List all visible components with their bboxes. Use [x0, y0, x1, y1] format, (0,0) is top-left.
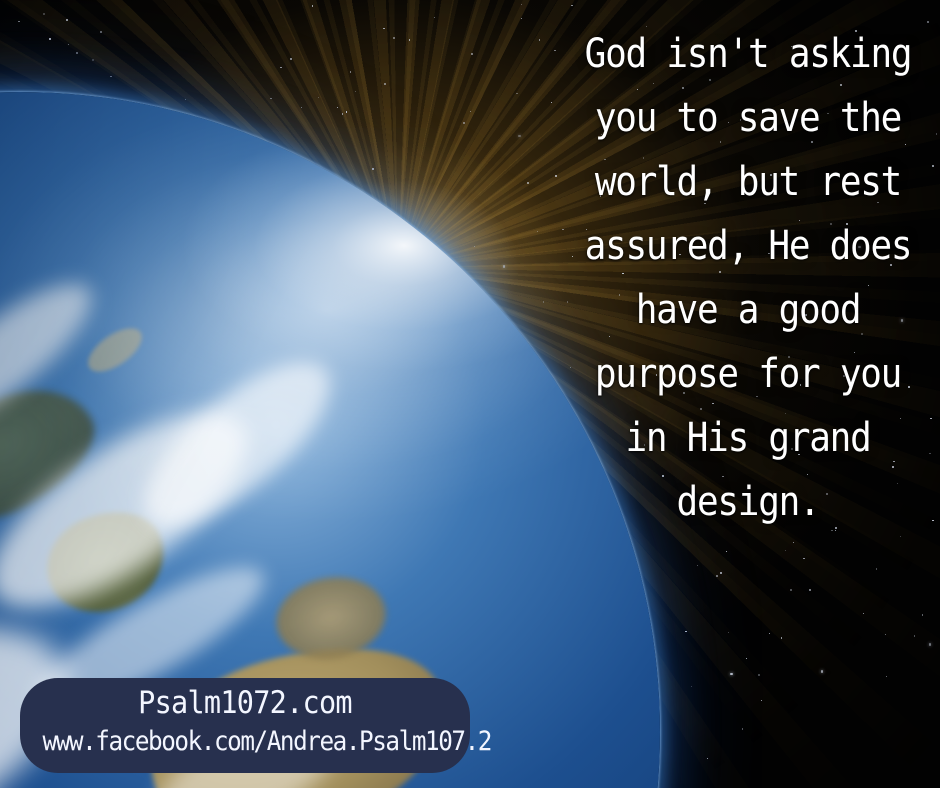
facebook-link-label[interactable]: www.facebook.com/Andrea.Psalm107.2: [43, 722, 448, 762]
quote-line: God isn't asking: [575, 22, 921, 86]
credit-banner: Psalm1072.com www.facebook.com/Andrea.Ps…: [20, 678, 470, 773]
quote-line: assured, He does: [575, 214, 921, 278]
quote-text-block: God isn't asking you to save the world, …: [556, 22, 940, 534]
quote-image-canvas: God isn't asking you to save the world, …: [0, 0, 940, 788]
website-label[interactable]: Psalm1072.com: [38, 682, 452, 724]
quote-line: you to save the: [575, 86, 921, 150]
quote-line: design.: [575, 470, 921, 534]
quote-line: purpose for you: [575, 342, 921, 406]
quote-line: have a good: [575, 278, 921, 342]
quote-line: in His grand: [575, 406, 921, 470]
quote-line: world, but rest: [575, 150, 921, 214]
